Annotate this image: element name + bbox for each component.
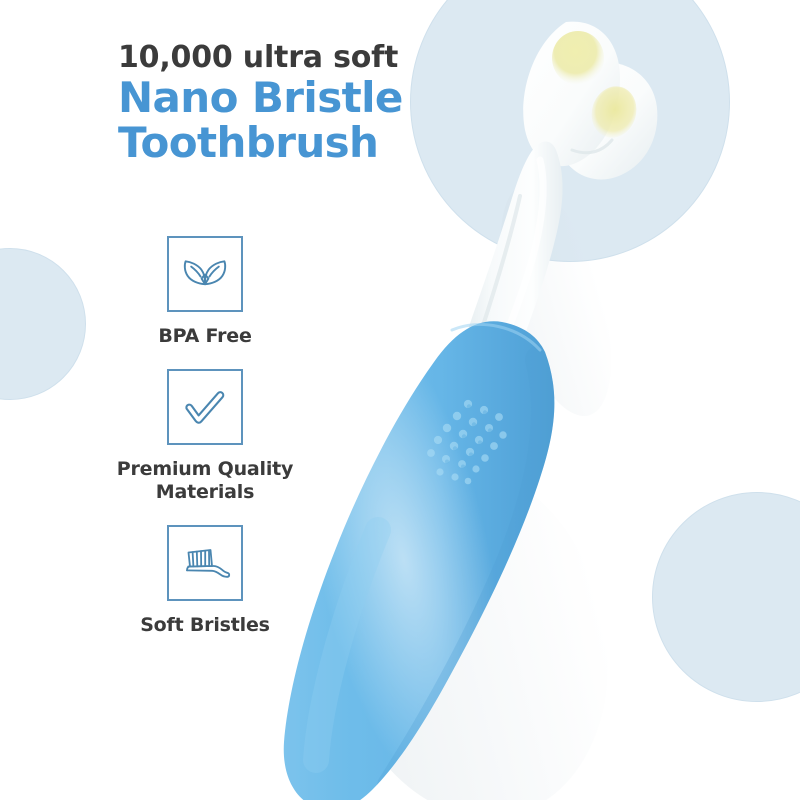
circle-bottom-right: [652, 492, 800, 702]
feature-item-soft-bristles: Soft Bristles: [90, 525, 320, 636]
product-shadow: [295, 172, 644, 800]
product-marketing-image: 10,000 ultra soft Nano Bristle Toothbrus…: [0, 0, 800, 800]
circle-left-edge: [0, 248, 86, 400]
feature-icon-box: [167, 369, 243, 445]
feature-item-bpa-free: BPA Free: [90, 236, 320, 347]
headline-block: 10,000 ultra soft Nano Bristle Toothbrus…: [118, 42, 538, 166]
feature-label: BPA Free: [158, 325, 251, 347]
feature-icon-box: [167, 525, 243, 601]
headline-kicker: 10,000 ultra soft: [118, 42, 538, 74]
feature-label: Premium Quality Materials: [117, 458, 293, 503]
feature-list: BPA Free Premium Quality Materials: [90, 236, 320, 637]
checkmark-icon: [180, 385, 230, 429]
headline-title-line-1: Nano Bristle: [118, 74, 538, 121]
feature-label: Soft Bristles: [140, 614, 270, 636]
headline-title-line-2: Toothbrush: [118, 119, 538, 166]
feature-item-premium-quality-materials: Premium Quality Materials: [90, 369, 320, 503]
feature-icon-box: [167, 236, 243, 312]
leaves-icon: [179, 250, 231, 298]
toothbrush-bristles-icon: [179, 542, 231, 584]
textured-grip-pad: [427, 400, 507, 484]
